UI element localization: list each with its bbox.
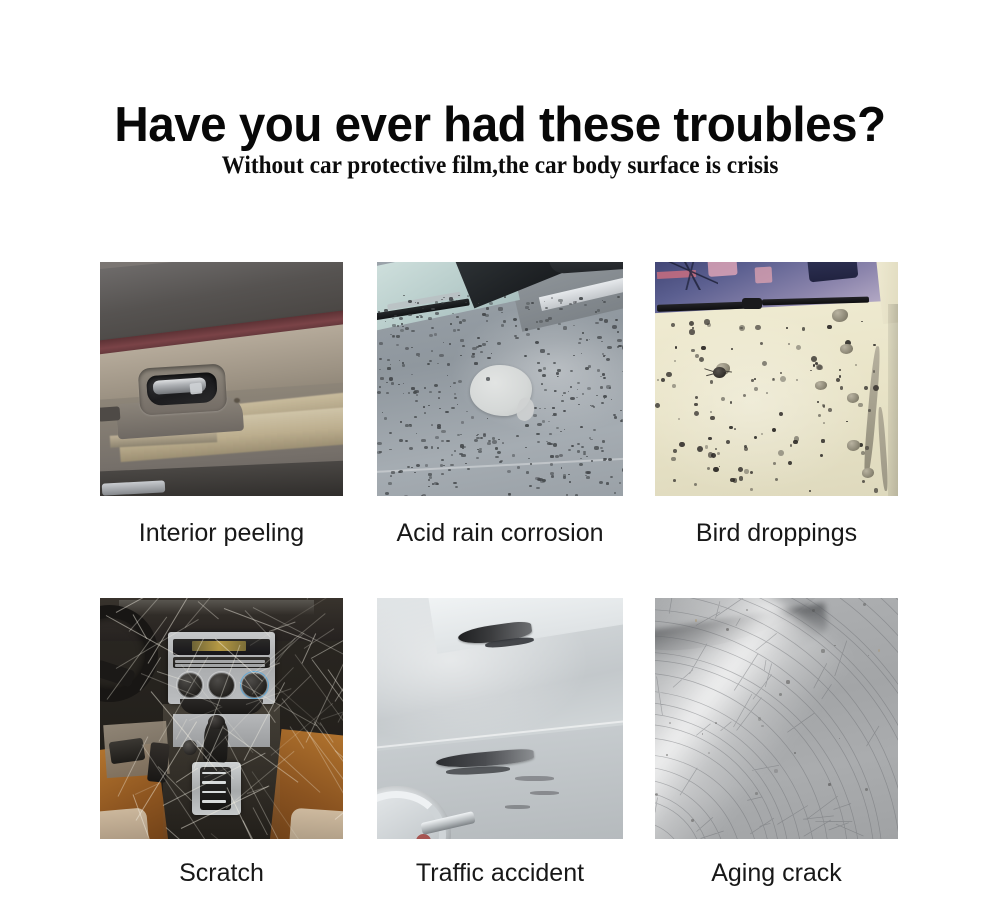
- bird-dropping-spot: [864, 386, 868, 390]
- acid-rain-speck: [405, 327, 409, 330]
- acid-rain-speck: [461, 421, 464, 423]
- acid-rain-speck: [560, 302, 562, 304]
- acid-rain-speck: [465, 302, 467, 303]
- bird-dropping-spot: [694, 403, 697, 406]
- acid-rain-speck: [418, 356, 420, 357]
- acid-rain-speck: [553, 443, 557, 446]
- bird-dropping-spot: [755, 325, 760, 330]
- acid-rain-speck: [480, 351, 483, 353]
- bird-dropping-spot: [874, 488, 879, 493]
- car-door-interior-peeling-photo[interactable]: [100, 262, 343, 496]
- acid-rain-speck: [450, 386, 451, 387]
- acid-rain-speck: [600, 447, 603, 449]
- acid-rain-speck: [603, 377, 606, 379]
- bird-dropping-spot: [705, 445, 708, 448]
- acid-rain-speck: [408, 300, 412, 303]
- acid-rain-speck: [415, 400, 417, 402]
- paint-debris-dot: [828, 783, 831, 786]
- acid-rain-speck: [515, 337, 518, 339]
- acid-rain-speck: [537, 328, 540, 330]
- acid-rain-speck: [474, 362, 478, 365]
- shifter-gate-tick-3: [202, 791, 226, 793]
- acid-rain-speck: [566, 494, 568, 496]
- acid-rain-speck: [556, 372, 559, 374]
- acid-rain-speck: [594, 446, 598, 449]
- trouble-item-bird-droppings[interactable]: Bird droppings: [655, 262, 898, 548]
- scuff-mark-1: [515, 776, 554, 781]
- bird-dropping-spot: [773, 462, 776, 465]
- acid-rain-speck: [441, 440, 444, 442]
- acid-rain-speck: [459, 321, 462, 323]
- acid-rain-speck: [408, 392, 410, 393]
- acid-rain-speck: [615, 319, 618, 322]
- bird-dropping-spot: [733, 478, 738, 483]
- paint-crackle-network: [655, 598, 898, 839]
- acid-rain-speck: [467, 295, 470, 297]
- bird-dropping-spot: [738, 467, 743, 472]
- acid-rain-speck: [392, 336, 395, 338]
- bird-dropping-spot: [655, 403, 660, 408]
- acid-rain-speck: [471, 416, 474, 419]
- bird-dropping-spot: [840, 386, 843, 389]
- acid-rain-speck: [454, 450, 456, 452]
- acid-rain-speck: [570, 386, 572, 387]
- acid-rain-speck: [457, 329, 459, 331]
- acid-rain-speck: [528, 309, 529, 310]
- acid-rain-speck: [586, 476, 590, 479]
- acid-rain-speck: [384, 417, 387, 419]
- acid-rain-speck: [597, 369, 600, 372]
- bird-dropping-spot: [821, 439, 824, 442]
- bird-dropping-spot: [868, 409, 870, 411]
- acid-rain-speck: [388, 482, 392, 485]
- acid-rain-speck: [499, 461, 502, 463]
- paint-debris-dot: [695, 619, 697, 621]
- trouble-item-traffic-accident[interactable]: Traffic accident: [377, 598, 623, 888]
- acid-rain-speck: [597, 336, 601, 339]
- acid-rain-speck: [553, 413, 557, 416]
- acid-rain-speck: [445, 411, 448, 413]
- paint-debris-dot: [755, 792, 758, 795]
- crackle-path: [655, 598, 898, 839]
- acid-rain-speck: [593, 429, 596, 431]
- acid-rain-speck: [552, 407, 554, 409]
- acid-rain-speck: [438, 397, 440, 399]
- bird-dropping-splat: [862, 468, 874, 478]
- caption-aging-crack: Aging crack: [655, 858, 898, 888]
- acid-rain-speck: [537, 423, 541, 426]
- acid-rain-speck: [437, 447, 440, 449]
- acid-rain-speck: [460, 339, 463, 341]
- trouble-item-interior-peeling[interactable]: Interior peeling: [100, 262, 343, 548]
- acid-rain-speck: [589, 437, 591, 439]
- acid-rain-speck: [448, 469, 451, 471]
- bird-dropping-spot: [731, 348, 733, 350]
- acid-rain-speck: [409, 447, 413, 450]
- acid-rain-speck: [411, 387, 415, 390]
- acid-rain-speck: [585, 367, 589, 370]
- trouble-item-aging-crack[interactable]: Aging crack: [655, 598, 898, 888]
- hood-right-shadow: [888, 304, 898, 496]
- acid-rain-speck: [612, 325, 617, 328]
- acid-rain-speck: [428, 486, 430, 487]
- acid-rain-speck: [391, 382, 395, 385]
- acid-rain-speck: [516, 435, 519, 437]
- acid-rain-speck: [416, 464, 420, 467]
- acid-rain-speck: [424, 446, 428, 449]
- paint-debris-dot: [669, 722, 671, 724]
- acid-rain-speck: [486, 377, 491, 380]
- acid-rain-speck: [617, 339, 622, 342]
- bird-dropping-spot: [679, 442, 685, 448]
- bird-dropping-spot: [671, 457, 676, 462]
- trouble-item-acid-rain-corrosion[interactable]: Acid rain corrosion: [377, 262, 623, 548]
- acid-rain-speck: [485, 314, 489, 317]
- acid-rain-speck: [401, 323, 403, 324]
- acid-rain-speck: [544, 389, 547, 391]
- bird-dropping-splat: [847, 440, 860, 451]
- acid-rain-speck: [537, 362, 539, 364]
- acid-rain-speck: [498, 307, 503, 310]
- acid-rain-speck: [534, 407, 537, 409]
- acid-rain-speck: [617, 331, 619, 333]
- acid-rain-speck: [417, 302, 420, 304]
- car-hood-bird-droppings-photo[interactable]: [655, 262, 898, 496]
- acid-rain-speck: [548, 317, 552, 320]
- acid-rain-speck: [503, 320, 506, 322]
- bird-dropping-spot: [710, 416, 714, 420]
- acid-rain-speck: [596, 395, 598, 396]
- bird-dropping-spot: [754, 387, 758, 391]
- acid-rain-speck: [529, 485, 532, 487]
- acid-rain-speck: [394, 315, 397, 317]
- acid-rain-speck: [607, 346, 611, 349]
- acid-rain-speck: [531, 302, 534, 304]
- acid-rain-speck: [471, 355, 475, 358]
- acid-rain-speck: [563, 474, 567, 477]
- acid-rain-speck: [441, 459, 443, 461]
- bird-dropping-splat: [840, 344, 853, 354]
- acid-rain-speck: [600, 386, 604, 389]
- acid-rain-speck: [482, 343, 486, 346]
- acid-rain-speck: [601, 450, 604, 452]
- acid-rain-speck: [450, 323, 452, 324]
- trouble-row-1: Interior peeling Aci: [100, 262, 900, 598]
- acid-rain-speck: [525, 306, 529, 309]
- acid-rain-speck: [560, 431, 562, 432]
- acid-rain-speck: [604, 319, 608, 322]
- paint-debris-dot: [708, 752, 710, 754]
- bird-dropping-spot: [713, 467, 719, 473]
- acid-rain-speck: [477, 337, 480, 339]
- car-paint-aging-crack-photo[interactable]: [655, 598, 898, 839]
- trouble-grid: Interior peeling Aci: [100, 262, 900, 883]
- bird-dropping-spot: [810, 370, 812, 372]
- vent-slat-1: [175, 660, 265, 663]
- acid-rain-speck: [387, 367, 391, 370]
- acid-rain-speck: [564, 429, 566, 430]
- acid-rain-speck: [472, 353, 474, 355]
- acid-rain-speck: [582, 332, 584, 333]
- acid-rain-speck: [573, 301, 576, 304]
- acid-rain-speck: [539, 320, 543, 323]
- door-side-notch: [100, 406, 120, 422]
- acid-rain-speck: [617, 296, 620, 298]
- acid-rain-speck: [591, 460, 593, 461]
- bird-dropping-spot: [697, 446, 703, 452]
- acid-rain-speck: [400, 329, 404, 332]
- acid-rain-speck: [571, 445, 574, 447]
- acid-rain-speck: [487, 357, 490, 359]
- bird-dropping-spot: [730, 401, 732, 403]
- acid-rain-speck: [549, 433, 551, 435]
- acid-rain-speck: [460, 434, 461, 435]
- paint-debris-dot: [863, 603, 866, 606]
- acid-rain-speck: [429, 476, 432, 478]
- acid-rain-speck: [420, 316, 423, 318]
- acid-rain-speck: [606, 482, 609, 484]
- auxiliary-knob[interactable]: [183, 740, 198, 754]
- bird-dropping-spot: [760, 342, 763, 345]
- trouble-row-2: Scratch: [100, 598, 900, 883]
- acid-rain-speck: [533, 414, 537, 417]
- bird-dropping-spot: [740, 327, 743, 330]
- acid-rain-speck: [467, 468, 470, 470]
- acid-rain-speck: [377, 442, 381, 445]
- acid-rain-speck: [403, 383, 405, 384]
- acid-rain-speck: [447, 363, 451, 366]
- acid-rain-speck: [603, 460, 605, 462]
- acid-rain-speck: [583, 453, 586, 455]
- acid-rain-speck: [512, 454, 515, 456]
- acid-rain-speck: [492, 440, 497, 443]
- acid-rain-speck: [478, 450, 482, 453]
- acid-rain-speck: [595, 311, 597, 312]
- bird-dropping-spot: [823, 405, 825, 407]
- acid-rain-speck: [424, 412, 426, 414]
- paint-debris-dot: [878, 649, 881, 652]
- car-hood-acid-rain-corrosion-photo[interactable]: [377, 262, 623, 496]
- acid-rain-speck: [602, 440, 605, 442]
- acid-rain-speck: [622, 347, 623, 350]
- acid-rain-speck: [435, 301, 438, 303]
- acid-rain-speck: [427, 363, 430, 365]
- acid-rain-speck: [608, 458, 612, 461]
- bird-dropping-spot: [754, 378, 756, 380]
- acid-rain-speck: [379, 386, 381, 387]
- acid-rain-speck: [396, 344, 399, 346]
- bird-dropping-spot: [691, 349, 694, 352]
- acid-rain-speck: [584, 304, 587, 306]
- acid-rain-speck: [487, 442, 491, 445]
- acid-rain-speck: [392, 318, 394, 320]
- acid-rain-speck: [544, 408, 545, 409]
- acid-rain-speck: [434, 482, 438, 485]
- scuff-mark-2: [530, 791, 560, 795]
- acid-rain-speck: [405, 424, 409, 427]
- paint-debris-dot: [786, 680, 789, 683]
- bird-dropping-spot: [839, 369, 841, 371]
- acid-rain-speck: [392, 324, 396, 327]
- acid-rain-speck: [387, 359, 390, 361]
- bird-dropping-spot: [715, 448, 717, 450]
- acid-rain-speck: [573, 325, 574, 326]
- acid-rain-speck: [486, 307, 489, 309]
- caption-interior-peeling: Interior peeling: [100, 518, 343, 548]
- scuff-mark-3: [505, 805, 530, 808]
- bird-dropping-spot: [873, 385, 879, 391]
- acid-rain-speck: [441, 430, 445, 433]
- acid-rain-speck: [559, 308, 562, 310]
- acid-rain-speck: [451, 299, 454, 301]
- acid-rain-speck: [462, 319, 466, 322]
- acid-rain-speck: [413, 391, 417, 394]
- acid-rain-speck: [380, 377, 384, 380]
- acid-rain-speck: [449, 343, 451, 344]
- acid-rain-speck: [476, 457, 479, 459]
- page-headline: Have you ever had these troubles?: [15, 100, 985, 150]
- acid-rain-speck: [453, 329, 457, 332]
- acid-rain-speck: [411, 467, 412, 468]
- bird-dropping-spot: [672, 384, 676, 388]
- acid-rain-speck: [409, 424, 412, 426]
- acid-rain-speck: [622, 468, 623, 471]
- bird-dropping-spot: [751, 379, 754, 382]
- acid-rain-speck: [379, 369, 381, 370]
- acid-rain-speck: [409, 424, 410, 425]
- acid-rain-speck: [559, 454, 563, 457]
- acid-rain-speck: [458, 295, 460, 296]
- acid-rain-speck: [453, 382, 456, 384]
- acid-rain-speck: [602, 373, 605, 375]
- bird-dropping-spot: [750, 471, 753, 474]
- tree-branch-reflection: [665, 262, 718, 290]
- acid-rain-speck: [525, 328, 528, 331]
- acid-rain-speck: [558, 323, 561, 325]
- caption-bird-droppings: Bird droppings: [655, 518, 898, 548]
- acid-rain-speck: [547, 353, 550, 355]
- acid-rain-speck: [435, 312, 438, 314]
- acid-rain-speck: [437, 426, 441, 429]
- caption-acid-rain-corrosion: Acid rain corrosion: [377, 518, 623, 548]
- acid-rain-speck: [577, 443, 580, 445]
- acid-rain-speck: [570, 397, 574, 400]
- bird-dropping-spot: [729, 426, 732, 429]
- acid-rain-speck: [385, 492, 389, 495]
- bird-dropping-spot: [827, 325, 832, 330]
- acid-rain-speck: [530, 463, 532, 464]
- acid-rain-speck: [399, 317, 403, 320]
- acid-rain-speck: [402, 364, 406, 367]
- acid-rain-speck: [428, 317, 432, 320]
- acid-rain-speck: [563, 392, 566, 394]
- acid-rain-speck: [558, 299, 563, 302]
- acid-rain-speck: [536, 487, 540, 490]
- acid-rain-speck: [569, 303, 572, 305]
- acid-rain-speck: [466, 411, 467, 412]
- bird-dropping-spot: [739, 476, 744, 481]
- bird-dropping-spot: [778, 450, 784, 456]
- acid-rain-speck: [501, 324, 504, 326]
- car-console-scratches-photo[interactable]: [100, 598, 343, 839]
- acid-rain-speck: [480, 437, 483, 439]
- paint-debris-dot: [779, 693, 782, 696]
- acid-rain-speck: [601, 402, 603, 404]
- acid-rain-speck: [456, 316, 459, 318]
- acid-rain-speck: [550, 463, 554, 466]
- acid-rain-speck: [526, 333, 530, 336]
- acid-rain-speck: [431, 424, 433, 426]
- acid-rain-speck: [414, 416, 417, 418]
- acid-rain-speck: [379, 342, 382, 345]
- acid-rain-speck: [451, 407, 455, 410]
- acid-rain-speck: [568, 474, 569, 475]
- bird-dropping-spot: [817, 365, 822, 370]
- paint-debris-dot: [666, 754, 668, 756]
- acid-rain-speck: [384, 309, 387, 312]
- bird-dropping-spot: [671, 323, 675, 327]
- bird-dropping-spot: [734, 428, 736, 430]
- acid-rain-speck: [563, 326, 567, 329]
- acid-rain-speck: [422, 494, 426, 496]
- acid-rain-speck: [540, 349, 545, 352]
- acid-rain-speck: [536, 433, 539, 435]
- page-subheadline: Without car protective film,the car body…: [35, 152, 965, 180]
- acid-rain-speck: [501, 312, 503, 313]
- promo-page: Have you ever had these troubles? Withou…: [0, 0, 1000, 923]
- door-handle-tab: [189, 382, 202, 394]
- bird-dropping-spot: [858, 403, 863, 408]
- paint-debris-dot: [774, 769, 778, 773]
- acid-rain-speck: [439, 354, 443, 357]
- acid-rain-speck: [450, 464, 453, 466]
- acid-rain-speck: [551, 475, 554, 478]
- door-grime-spot: [234, 398, 240, 403]
- caption-scratch: Scratch: [100, 858, 343, 888]
- trouble-item-scratch[interactable]: Scratch: [100, 598, 343, 888]
- acid-rain-speck: [379, 451, 381, 453]
- acid-rain-speck: [397, 325, 399, 326]
- acid-rain-speck: [526, 471, 530, 474]
- acid-rain-speck: [587, 387, 591, 390]
- acid-rain-speck: [597, 309, 601, 312]
- bird-dropping-spot: [689, 329, 694, 334]
- acid-rain-speck: [429, 360, 432, 362]
- acid-rain-speck: [575, 494, 579, 496]
- acid-rain-speck: [378, 311, 381, 313]
- bird-dropping-spot: [766, 392, 768, 394]
- acid-rain-speck: [441, 299, 443, 300]
- car-body-collision-damage-photo[interactable]: [377, 598, 623, 839]
- bird-dropping-spot: [828, 408, 832, 412]
- bird-dropping-spot: [780, 376, 786, 382]
- bird-dropping-spot: [865, 446, 868, 449]
- windshield-reflection-right: [754, 266, 772, 283]
- acid-rain-speck: [619, 482, 621, 484]
- bird-dropping-spot: [772, 428, 776, 432]
- acid-rain-speck: [451, 454, 453, 455]
- acid-rain-speck: [568, 449, 571, 451]
- paint-debris-dot: [655, 793, 658, 796]
- acid-rain-speck: [434, 333, 437, 335]
- acid-rain-speck: [550, 455, 554, 458]
- bird-dropping-spot: [873, 370, 875, 372]
- acid-rain-speck: [389, 377, 394, 380]
- shifter-gate-tick-4: [202, 800, 226, 802]
- acid-rain-speck: [583, 451, 585, 453]
- bird-dropping-spot: [710, 380, 714, 384]
- bird-dropping-spot: [823, 422, 825, 424]
